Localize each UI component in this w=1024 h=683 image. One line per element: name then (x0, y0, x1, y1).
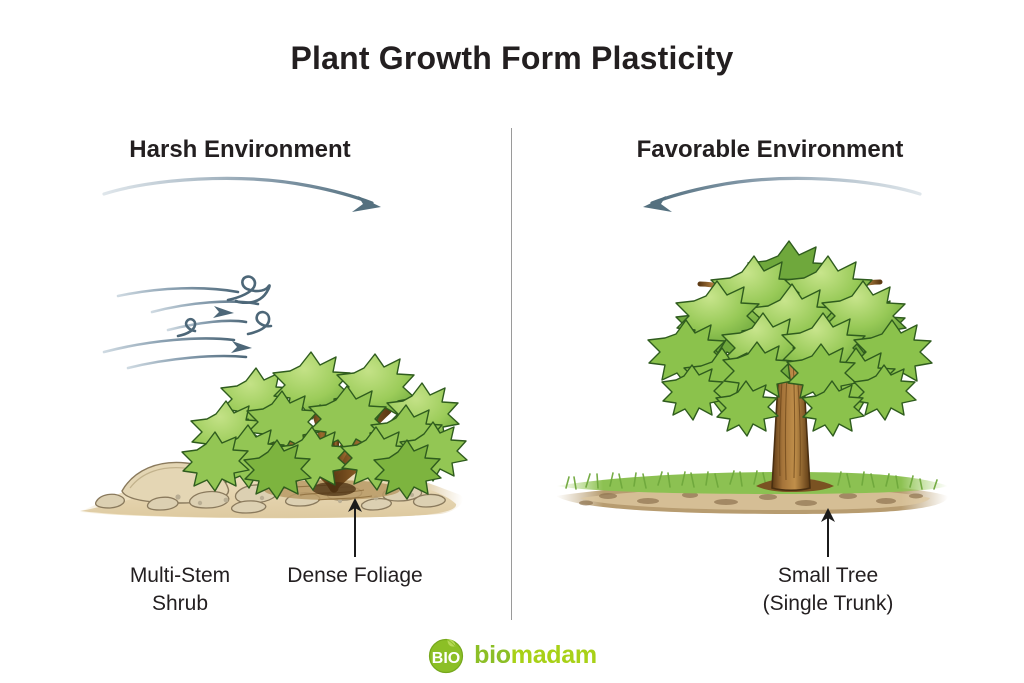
infographic-canvas: Plant Growth Form Plasticity Harsh Envir… (0, 0, 1024, 683)
small-tree-pointer (821, 508, 835, 557)
logo-word-bio: bio (474, 641, 511, 669)
bio-badge-text: BIO (432, 650, 460, 667)
bio-badge-icon: BIO (427, 636, 465, 674)
logo-word-madam: madam (511, 641, 597, 669)
biomadam-logo[interactable]: BIO biomadam (0, 636, 1024, 674)
grass-soil-ground (556, 471, 948, 514)
small-tree-label: Small Tree (Single Trunk) (708, 562, 948, 619)
dense-foliage-label: Dense Foliage (238, 562, 472, 590)
logo-wordmark: biomadam (474, 643, 597, 668)
